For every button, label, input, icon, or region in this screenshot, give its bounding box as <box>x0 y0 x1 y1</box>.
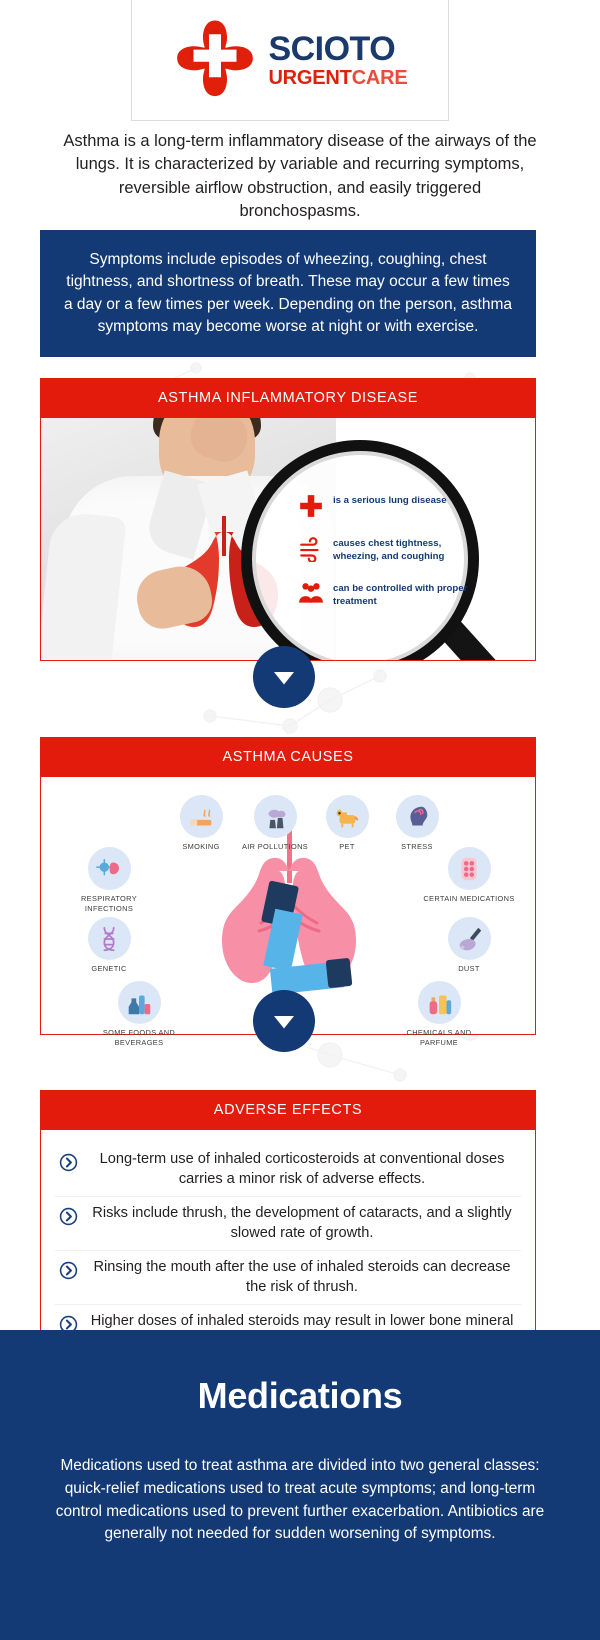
adverse-effect-text: Risks include thrush, the development of… <box>87 1204 517 1243</box>
cause-label: PET <box>339 842 354 851</box>
circled-chevron-right-icon <box>59 1207 78 1226</box>
adverse-effect-item: Rinsing the mouth after the use of inhal… <box>55 1250 521 1304</box>
logo-name-top: SCIOTO <box>268 32 407 66</box>
magnifying-glass: is a serious lung disease causes chest t… <box>241 440 493 661</box>
bottles-food-icon <box>118 981 161 1024</box>
head-stress-icon <box>396 795 439 838</box>
intro-paragraph: Asthma is a long-term inflammatory disea… <box>62 130 538 224</box>
scroll-arrow-down-2 <box>253 990 315 1052</box>
logo-name-bottom: URGENTCARE <box>268 68 407 88</box>
cause-label: GENETIC <box>91 964 126 973</box>
cause-label: CERTAIN MEDICATIONS <box>423 894 514 903</box>
medications-footer: Medications Medications used to treat as… <box>0 1330 600 1640</box>
cause-item-certain-medications: CERTAIN MEDICATIONS <box>421 847 517 904</box>
virus-bacteria-icon <box>88 847 131 890</box>
cause-label: CHEMICALS AND PARFUME <box>407 1028 472 1047</box>
magnifier-point: causes chest tightness, wheezing, and co… <box>298 536 476 564</box>
circled-chevron-right-icon <box>59 1261 78 1280</box>
logo-care-text: CARE <box>352 67 408 89</box>
cause-item-chemicals-and-parfume: CHEMICALS AND PARFUME <box>391 981 487 1048</box>
cause-item-dust: DUST <box>421 917 517 974</box>
wind-wheeze-icon <box>298 536 324 562</box>
adverse-effect-item: Risks include thrush, the development of… <box>55 1196 521 1250</box>
red-cross-logo-icon <box>172 17 258 103</box>
symptoms-panel: Symptoms include episodes of wheezing, c… <box>40 230 536 357</box>
pill-blister-icon <box>448 847 491 890</box>
symptoms-text: Symptoms include episodes of wheezing, c… <box>62 249 514 339</box>
footer-title: Medications <box>198 1375 403 1417</box>
photo-arm <box>41 511 127 659</box>
spray-bottles-icon <box>418 981 461 1024</box>
magnifier-point-list: is a serious lung disease causes chest t… <box>298 493 476 626</box>
chevron-down-icon <box>269 1006 299 1036</box>
chevron-down-icon <box>269 662 299 692</box>
cause-label: DUST <box>458 964 480 973</box>
people-group-icon <box>298 581 324 607</box>
magnifier-point-text: causes chest tightness, wheezing, and co… <box>333 536 476 564</box>
cause-label: RESPIRATORY INFECTIONS <box>81 894 137 913</box>
logo-urgent-text: URGENT <box>268 67 351 89</box>
scroll-arrow-down-1 <box>253 646 315 708</box>
adverse-effect-item: Long-term use of inhaled corticosteroids… <box>55 1143 521 1196</box>
footer-text: Medications used to treat asthma are div… <box>45 1455 555 1546</box>
smokestack-icon <box>254 795 297 838</box>
section-disease-body: is a serious lung disease causes chest t… <box>40 418 536 661</box>
duster-brush-icon <box>448 917 491 960</box>
cause-item-some-foods-and-beverages: SOME FOODS AND BEVERAGES <box>91 981 187 1048</box>
section-adverse-header: ADVERSE EFFECTS <box>40 1090 536 1130</box>
section-disease-header: ASTHMA INFLAMMATORY DISEASE <box>40 378 536 418</box>
magnifier-point-text: can be controlled with proper treatment <box>333 581 476 609</box>
dna-icon <box>88 917 131 960</box>
cigarette-icon <box>180 795 223 838</box>
brand-logo: SCIOTO URGENTCARE <box>131 0 449 121</box>
red-cross-icon <box>298 493 324 519</box>
cause-label: SMOKING <box>182 842 219 851</box>
magnifier-point: is a serious lung disease <box>298 493 476 519</box>
section-inflammatory-disease: ASTHMA INFLAMMATORY DISEASE <box>40 378 536 661</box>
magnifier-lens: is a serious lung disease causes chest t… <box>241 440 479 661</box>
infographic-page: SCIOTO URGENTCARE Asthma is a long-term … <box>0 0 600 1640</box>
adverse-effect-text: Long-term use of inhaled corticosteroids… <box>87 1150 517 1189</box>
dog-icon <box>326 795 369 838</box>
circled-chevron-right-icon <box>59 1153 78 1172</box>
cause-label: SOME FOODS AND BEVERAGES <box>103 1028 175 1047</box>
section-causes-header: ASTHMA CAUSES <box>40 737 536 777</box>
cause-item-genetic: GENETIC <box>61 917 157 974</box>
cause-item-stress: STRESS <box>369 795 465 852</box>
adverse-effect-text: Rinsing the mouth after the use of inhal… <box>87 1258 517 1297</box>
magnifier-point: can be controlled with proper treatment <box>298 581 476 609</box>
cause-item-respiratory-infections: RESPIRATORY INFECTIONS <box>61 847 157 914</box>
magnifier-point-text: is a serious lung disease <box>333 493 447 508</box>
